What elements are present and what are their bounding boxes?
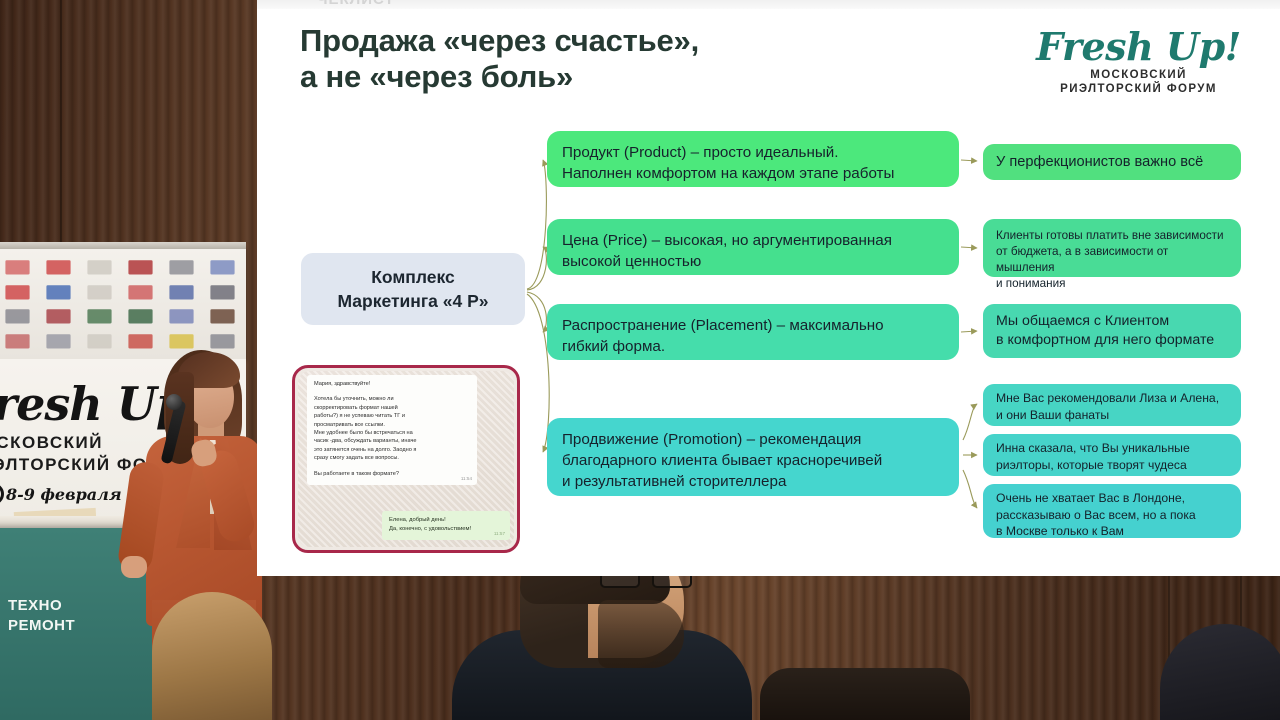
microphone-head: [166, 394, 182, 410]
slide-top-ghost-text: ЧЕКЛИСТ: [317, 0, 395, 8]
right-box-london-line2: рассказываю о Вас всем, но а пока: [996, 507, 1228, 524]
mid-box-promotion[interactable]: Продвижение (Promotion) – рекомендация б…: [547, 418, 959, 496]
slide-title-line2: а не «через боль»: [300, 59, 900, 95]
chair-back: [760, 668, 970, 720]
right-box-budget[interactable]: Клиенты готовы платить вне зависимости о…: [983, 219, 1241, 277]
chat-incoming-question: Вы работаете в таком формате?: [314, 470, 470, 478]
diagram-hub-marketing-mix[interactable]: Комплекс Маркетинга «4 Р»: [301, 253, 525, 325]
slide-logo-line1: МОСКОВСКИЙ: [1031, 68, 1246, 82]
mid-box-price-line1: Цена (Price) – высокая, но аргументирова…: [562, 230, 944, 251]
mid-box-product[interactable]: Продукт (Product) – просто идеальный. На…: [547, 131, 959, 187]
chat-incoming-line7: это затянется очень на долго. Заодно я: [314, 446, 470, 454]
right-box-referral-inna[interactable]: Инна сказала, что Вы уникальные риэлторы…: [983, 434, 1241, 476]
banner-subtitle-line1: МОСКОВСКИЙ: [0, 433, 103, 453]
podium-text-line2: РЕМОНТ: [8, 616, 75, 636]
chat-incoming-line6: часик -два, обсуждать варианты, иначе: [314, 437, 470, 445]
mid-box-promotion-line2: благодарного клиента бывает красноречиве…: [562, 450, 944, 471]
slide-logo-brand: Fresh Up!: [1031, 26, 1246, 68]
mid-box-product-line2: Наполнен комфортом на каждом этапе работ…: [562, 163, 944, 184]
right-box-london-line1: Очень не хватает Вас в Лондоне,: [996, 490, 1228, 507]
slide-title-line1: Продажа «через счастье»,: [300, 23, 900, 59]
right-box-london[interactable]: Очень не хватает Вас в Лондоне, рассказы…: [983, 484, 1241, 538]
right-box-referral-liza[interactable]: Мне Вас рекомендовали Лиза и Алена, и он…: [983, 384, 1241, 426]
slide-logo: Fresh Up! МОСКОВСКИЙ РИЭЛТОРСКИЙ ФОРУМ: [1031, 26, 1246, 96]
right-box-referral-liza-line2: и они Ваши фанаты: [996, 407, 1228, 424]
chat-screenshot-card: Мария, здравствуйте! Хотела бы уточнить,…: [292, 365, 520, 553]
right-box-comfort-format[interactable]: Мы общаемся с Клиентом в комфортном для …: [983, 304, 1241, 358]
slide-top-strip: ЧЕКЛИСТ: [257, 0, 1280, 9]
chat-incoming-line5: Мне удобнее было бы встречаться на: [314, 429, 470, 437]
audience-member-beard: [598, 600, 684, 668]
mid-box-placement-line1: Распространение (Placement) – максимальн…: [562, 315, 944, 336]
right-box-comfort-format-line2: в комфортном для него формате: [996, 331, 1228, 350]
right-box-perfectionists-text: У перфекционистов важно всё: [996, 152, 1228, 172]
right-box-perfectionists[interactable]: У перфекционистов важно всё: [983, 144, 1241, 180]
chat-incoming-timestamp: 11:54: [461, 475, 472, 483]
presentation-slide: ЧЕКЛИСТ Продажа «через счастье», а не «ч…: [257, 0, 1280, 576]
hub-label-line1: Комплекс: [338, 265, 489, 289]
clock-icon: [0, 483, 4, 505]
chat-outgoing-timestamp: 11:57: [494, 530, 505, 539]
chat-bubble-outgoing: Елена, добрый день! Да, конечно, с удово…: [382, 511, 510, 540]
right-box-referral-inna-line2: риэлторы, которые творят чудеса: [996, 457, 1228, 474]
chat-screenshot-body: Мария, здравствуйте! Хотела бы уточнить,…: [298, 371, 514, 547]
mid-box-placement-line2: гибкий форма.: [562, 336, 944, 357]
slide-logo-line2: РИЭЛТОРСКИЙ ФОРУМ: [1031, 82, 1246, 96]
right-box-budget-line1: Клиенты готовы платить вне зависимости: [996, 228, 1228, 244]
podium-text-line1: ТЕХНО: [8, 596, 75, 616]
mid-box-promotion-line3: и результативней сторителлера: [562, 471, 944, 492]
sponsor-logo-banner: [0, 248, 246, 360]
right-box-budget-line2: от бюджета, а в зависимости от мышления: [996, 244, 1228, 276]
chat-incoming-line4: просматривать все ссылки.: [314, 421, 470, 429]
chat-incoming-greeting: Мария, здравствуйте!: [314, 380, 470, 388]
audience-member-head: [152, 592, 272, 720]
right-box-london-line3: в Москве только к Вам: [996, 523, 1228, 540]
sponsor-logo-grid: [0, 256, 242, 352]
chat-outgoing-line2: Да, конечно, с удовольствием!: [389, 525, 503, 534]
chat-incoming-line8: сразу смогу задать все вопросы.: [314, 454, 470, 462]
chat-incoming-line2: скорректировать формат нашей: [314, 404, 470, 412]
slide-title: Продажа «через счастье», а не «через бол…: [300, 23, 900, 95]
right-box-referral-liza-line1: Мне Вас рекомендовали Лиза и Алена,: [996, 390, 1228, 407]
chat-bubble-incoming: Мария, здравствуйте! Хотела бы уточнить,…: [307, 375, 477, 485]
mid-box-product-line1: Продукт (Product) – просто идеальный.: [562, 142, 944, 163]
mid-box-promotion-line1: Продвижение (Promotion) – рекомендация: [562, 429, 944, 450]
chat-outgoing-line1: Елена, добрый день!: [389, 516, 503, 525]
right-box-budget-line3: и понимания: [996, 276, 1228, 292]
presenter-hand-right: [121, 556, 147, 578]
hub-label-line2: Маркетинга «4 Р»: [338, 289, 489, 313]
mid-box-price[interactable]: Цена (Price) – высокая, но аргументирова…: [547, 219, 959, 275]
podium-sponsor-text: ТЕХНО РЕМОНТ: [8, 596, 75, 636]
banner-rail: [0, 242, 246, 249]
hub-label: Комплекс Маркетинга «4 Р»: [338, 265, 489, 313]
chat-incoming-line1: Хотела бы уточнить, можно ли: [314, 395, 470, 403]
right-box-comfort-format-line1: Мы общаемся с Клиентом: [996, 312, 1228, 331]
chat-incoming-line3: работы?) я не успеваю читать ТГ и: [314, 412, 470, 420]
right-box-referral-inna-line1: Инна сказала, что Вы уникальные: [996, 440, 1228, 457]
mid-box-placement[interactable]: Распространение (Placement) – максимальн…: [547, 304, 959, 360]
mid-box-price-line2: высокой ценностью: [562, 251, 944, 272]
